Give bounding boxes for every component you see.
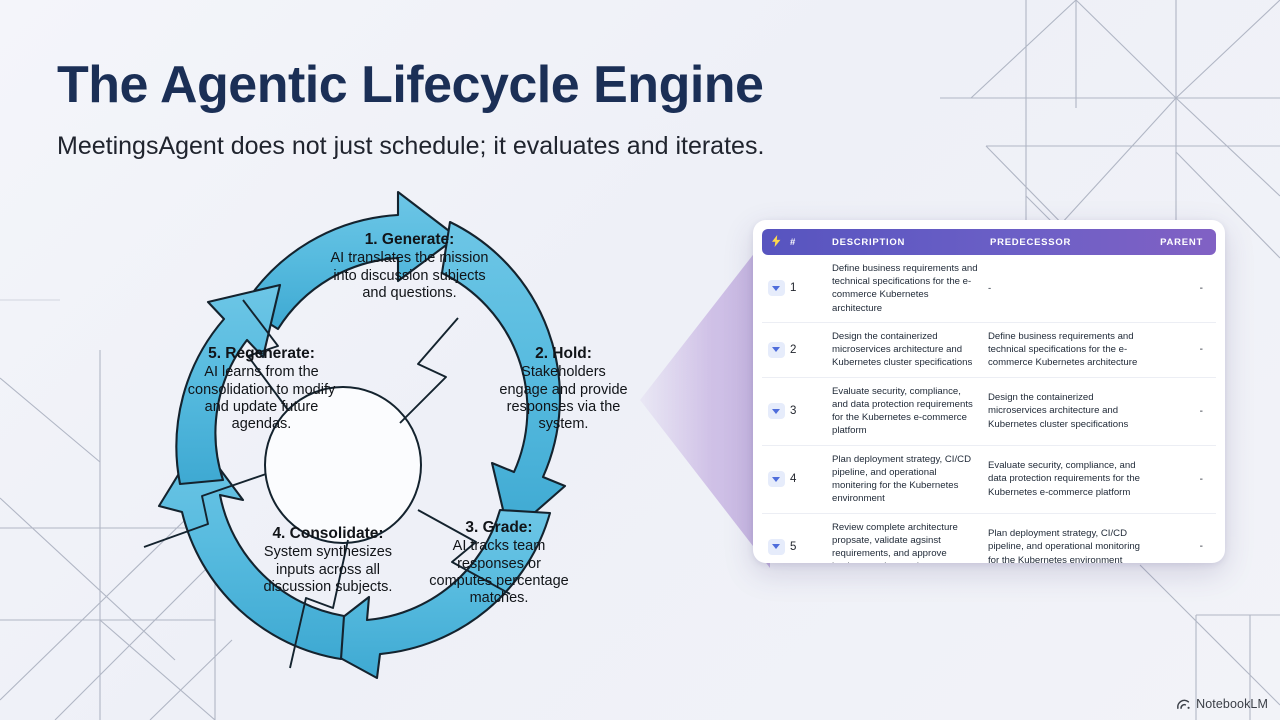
cell-parent: -	[1160, 541, 1216, 552]
heading-block: The Agentic Lifecycle Engine MeetingsAge…	[57, 58, 764, 161]
cell-predecessor: Evaluate security, compliance, and data …	[988, 459, 1160, 499]
page-subtitle: MeetingsAgent does not just schedule; it…	[57, 132, 764, 161]
cell-predecessor: Define business requirements and technic…	[988, 330, 1160, 370]
chevron-down-icon[interactable]	[768, 471, 785, 487]
cell-parent: -	[1160, 283, 1216, 294]
cell-parent: -	[1160, 344, 1216, 355]
lightning-bolt-icon	[762, 235, 790, 250]
cell-description: Design the containerized microservices a…	[816, 330, 988, 370]
row-expand-toggle[interactable]	[762, 471, 790, 487]
cell-number: 3	[790, 405, 816, 417]
table-row[interactable]: 2 Design the containerized microservices…	[762, 323, 1216, 378]
cell-description: Define business requirements and technic…	[816, 262, 988, 315]
cell-predecessor: -	[988, 282, 1160, 295]
cell-number: 2	[790, 344, 816, 356]
table-row[interactable]: 5 Review complete architecture propsate,…	[762, 514, 1216, 563]
column-header-description: DESCRIPTION	[816, 237, 988, 248]
row-expand-toggle[interactable]	[762, 539, 790, 555]
chevron-down-icon[interactable]	[768, 539, 785, 555]
table-row[interactable]: 3 Evaluate security, compliance, and dat…	[762, 378, 1216, 446]
table-row[interactable]: 4 Plan deployment strategy, CI/CD pipeli…	[762, 446, 1216, 514]
slide-canvas: The Agentic Lifecycle Engine MeetingsAge…	[0, 0, 1280, 720]
page-title: The Agentic Lifecycle Engine	[57, 58, 764, 113]
cycle-divider-1-2	[400, 318, 458, 423]
cycle-arrow-5	[176, 285, 280, 484]
cell-number: 1	[790, 282, 816, 294]
chevron-down-icon[interactable]	[768, 403, 785, 419]
task-table-panel: # DESCRIPTION PREDECESSOR PARENT 1 Defin…	[753, 220, 1225, 563]
cycle-hub-circle	[265, 387, 421, 543]
cell-parent: -	[1160, 474, 1216, 485]
cell-description: Plan deployment strategy, CI/CD pipeline…	[816, 453, 988, 506]
column-header-parent: PARENT	[1160, 237, 1216, 248]
column-header-predecessor: PREDECESSOR	[988, 237, 1160, 248]
chevron-down-icon[interactable]	[768, 280, 785, 296]
row-expand-toggle[interactable]	[762, 403, 790, 419]
cell-description: Evaluate security, compliance, and data …	[816, 385, 988, 438]
row-expand-toggle[interactable]	[762, 280, 790, 296]
cell-predecessor: Plan deployment strategy, CI/CD pipeline…	[988, 527, 1160, 563]
column-header-number: #	[790, 237, 816, 248]
notebooklm-label: NotebookLM	[1196, 697, 1268, 711]
cell-number: 4	[790, 473, 816, 485]
chevron-down-icon[interactable]	[768, 342, 785, 358]
cell-number: 5	[790, 541, 816, 553]
lifecycle-cycle-diagram	[130, 180, 690, 700]
cell-parent: -	[1160, 406, 1216, 417]
table-header-row: # DESCRIPTION PREDECESSOR PARENT	[762, 229, 1216, 255]
notebooklm-logo-icon	[1176, 696, 1191, 711]
cell-description: Review complete architecture propsate, v…	[816, 521, 988, 563]
notebooklm-watermark: NotebookLM	[1176, 696, 1268, 711]
table-body: 1 Define business requirements and techn…	[762, 255, 1216, 563]
table-row[interactable]: 1 Define business requirements and techn…	[762, 255, 1216, 323]
cell-predecessor: Design the containerized microservices a…	[988, 391, 1160, 431]
row-expand-toggle[interactable]	[762, 342, 790, 358]
cycle-arrow-2	[442, 222, 565, 535]
